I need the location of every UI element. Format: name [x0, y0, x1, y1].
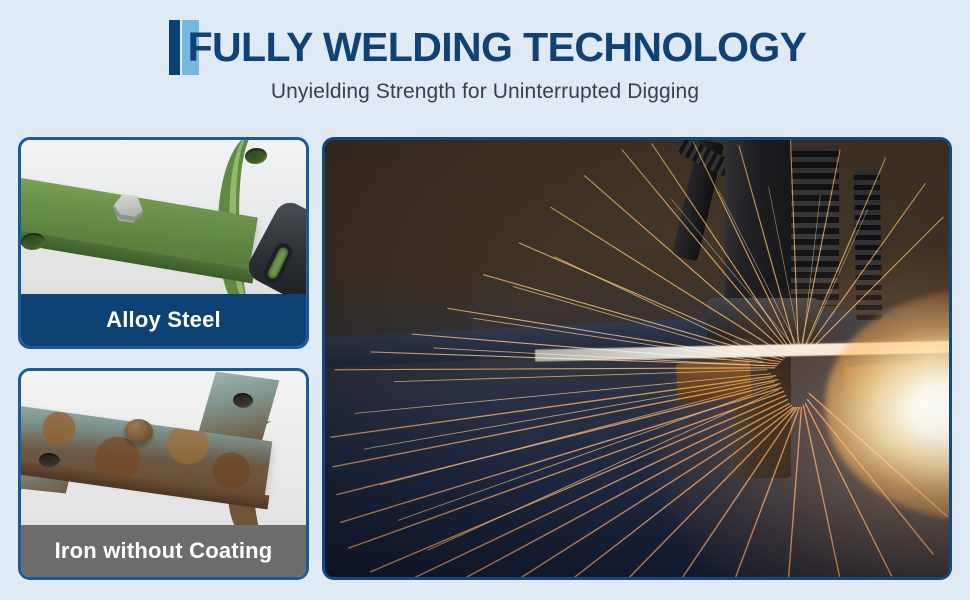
image-vignette: [325, 140, 949, 577]
page-subtitle: Unyielding Strength for Uninterrupted Di…: [0, 80, 970, 104]
card-alloy-steel: Alloy Steel: [18, 137, 309, 349]
card-label-alloy-steel: Alloy Steel: [21, 294, 306, 346]
main-image-welding-sparks: [322, 137, 952, 580]
accent-bar-dark-icon: [169, 20, 180, 75]
card-label-iron-without-coating: Iron without Coating: [21, 525, 306, 577]
welding-technology-banner: FULLY WELDING TECHNOLOGY Unyielding Stre…: [0, 0, 970, 600]
title-row: FULLY WELDING TECHNOLOGY: [0, 16, 970, 78]
page-title: FULLY WELDING TECHNOLOGY: [188, 27, 807, 68]
card-iron-without-coating: Iron without Coating: [18, 368, 309, 580]
header: FULLY WELDING TECHNOLOGY Unyielding Stre…: [0, 0, 970, 125]
